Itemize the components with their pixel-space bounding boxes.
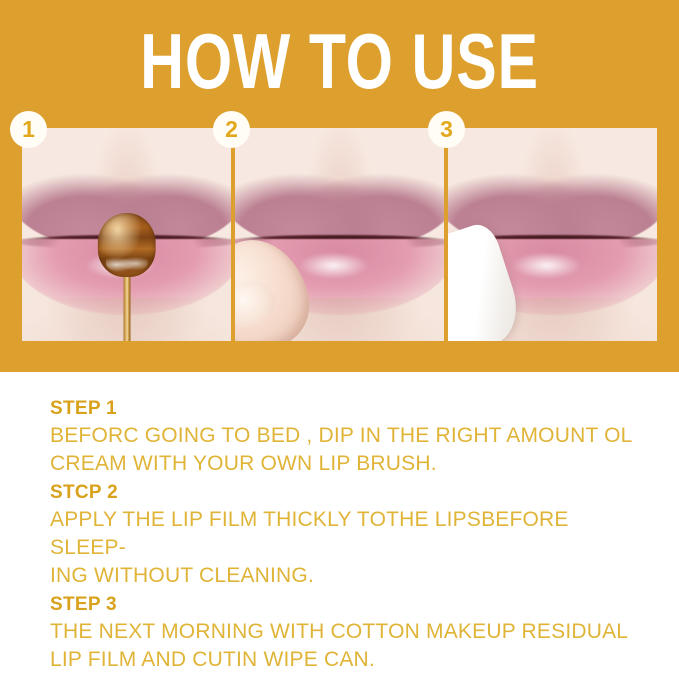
lip-gloss-highlight-icon [511,252,582,280]
instruction-step-1: STEP 1 BEFORC GOING TO BED , DIP IN THE … [50,396,650,478]
instructions-list: STEP 1 BEFORC GOING TO BED , DIP IN THE … [50,396,650,676]
page-title: HOW TO USE [75,22,605,100]
lip-gloss-highlight-icon [298,252,369,280]
instruction-step-2: STCP 2 APPLY THE LIP FILM THICKLY TOTHE … [50,480,650,590]
photo-panel-step-2 [235,128,444,341]
step-3-body: THE NEXT MORNING WITH COTTON MAKEUP RESI… [50,618,650,674]
step-1-heading: STEP 1 [50,396,650,422]
step-badge-1: 1 [10,111,47,148]
photo-panel-step-3 [448,128,657,341]
step-badge-2: 2 [213,111,250,148]
fingernail-icon [235,271,283,334]
step-badge-3: 3 [428,111,465,148]
instruction-step-3: STEP 3 THE NEXT MORNING WITH COTTON MAKE… [50,592,650,674]
step-3-heading: STEP 3 [50,592,650,618]
step-1-body: BEFORC GOING TO BED , DIP IN THE RIGHT A… [50,422,650,478]
step-2-heading: STCP 2 [50,480,650,506]
lip-applicator-icon [97,213,156,277]
how-to-use-infographic: HOW TO USE [0,0,679,679]
photo-panel-step-1 [22,128,231,341]
photo-strip [22,128,657,341]
step-2-body: APPLY THE LIP FILM THICKLY TOTHE LIPSBEF… [50,506,650,590]
